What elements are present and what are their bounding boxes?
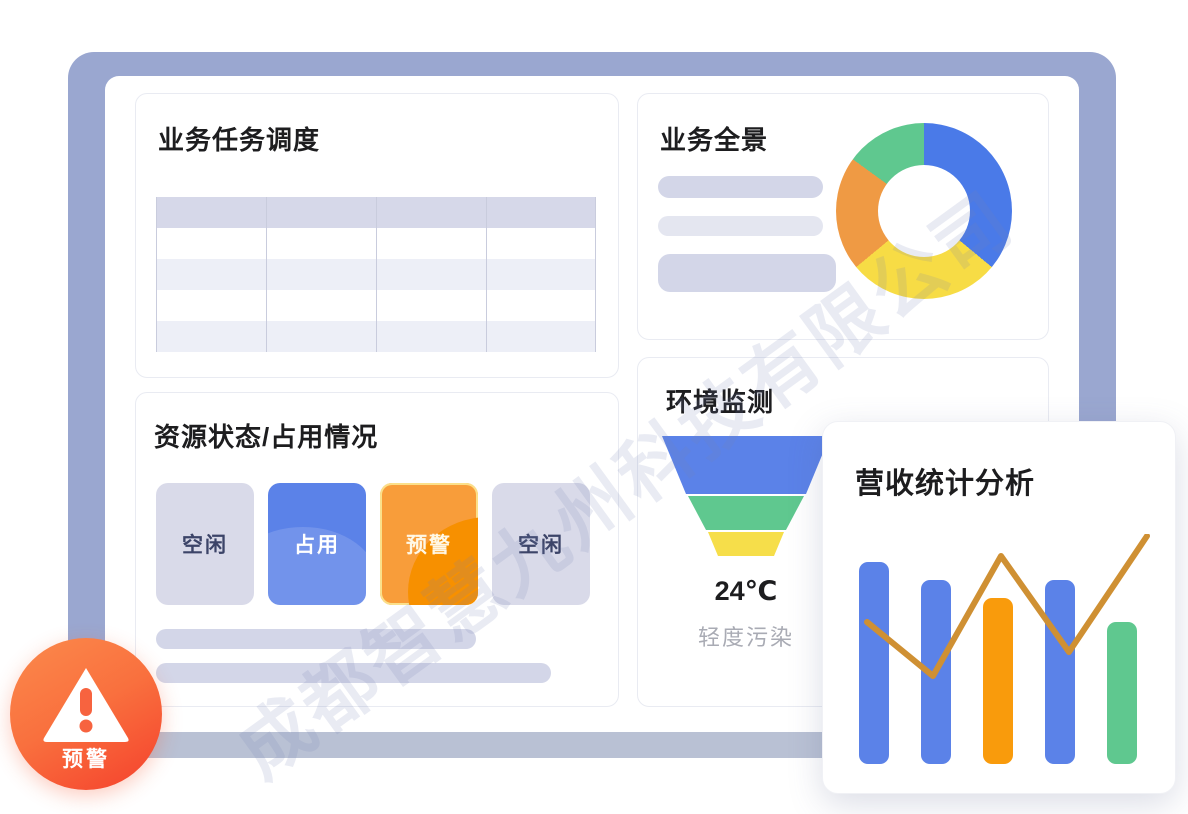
task-table[interactable] [156, 197, 596, 352]
table-column-divider [156, 197, 157, 352]
funnel-svg [656, 434, 836, 558]
resource-tile-busy[interactable]: 占用 [268, 483, 366, 605]
warning-triangle-icon [41, 664, 131, 742]
placeholder-bar [658, 254, 836, 292]
donut-chart[interactable] [836, 123, 1012, 299]
resource-tile-label: 空闲 [518, 529, 564, 559]
placeholder-bar [156, 663, 551, 683]
funnel-segment-2 [688, 496, 804, 530]
alert-badge-label: 预警 [10, 743, 162, 773]
alert-badge[interactable]: 预警 [10, 638, 162, 790]
placeholder-bar [156, 629, 476, 649]
revenue-trend-line [853, 534, 1153, 764]
card-revenue-analysis-title: 营收统计分析 [855, 460, 1035, 502]
resource-tile-label: 占用 [294, 529, 340, 559]
card-resource-status-title: 资源状态/占用情况 [154, 417, 378, 454]
resource-tile-label: 预警 [406, 529, 452, 559]
card-resource-status[interactable]: 资源状态/占用情况 空闲 占用 预警 空闲 [135, 392, 619, 707]
placeholder-bar [658, 176, 823, 198]
revenue-chart[interactable] [853, 534, 1153, 764]
funnel-segment-3 [708, 532, 784, 556]
table-column-divider [376, 197, 377, 352]
card-task-schedule-title: 业务任务调度 [158, 120, 320, 157]
card-business-overview-title: 业务全景 [660, 120, 768, 157]
screenshot-stage: 业务任务调度 业务全景 资源状态/占用情况 空闲 [0, 0, 1188, 814]
laptop-base [60, 732, 864, 758]
table-column-divider [486, 197, 487, 352]
funnel-segment-1 [662, 436, 830, 494]
donut-center-hole [878, 165, 970, 257]
resource-tile-warning[interactable]: 预警 [380, 483, 478, 605]
placeholder-bar [658, 216, 823, 236]
card-environment-monitor-title: 环境监测 [666, 382, 774, 419]
resource-tile-idle-2[interactable]: 空闲 [492, 483, 590, 605]
funnel-chart[interactable] [656, 434, 836, 558]
card-task-schedule[interactable]: 业务任务调度 [135, 93, 619, 378]
resource-tile-label: 空闲 [182, 529, 228, 559]
card-business-overview[interactable]: 业务全景 [637, 93, 1049, 340]
table-column-divider [266, 197, 267, 352]
resource-tile-idle-1[interactable]: 空闲 [156, 483, 254, 605]
table-column-divider [595, 197, 596, 352]
card-revenue-analysis[interactable]: 营收统计分析 [822, 421, 1176, 794]
